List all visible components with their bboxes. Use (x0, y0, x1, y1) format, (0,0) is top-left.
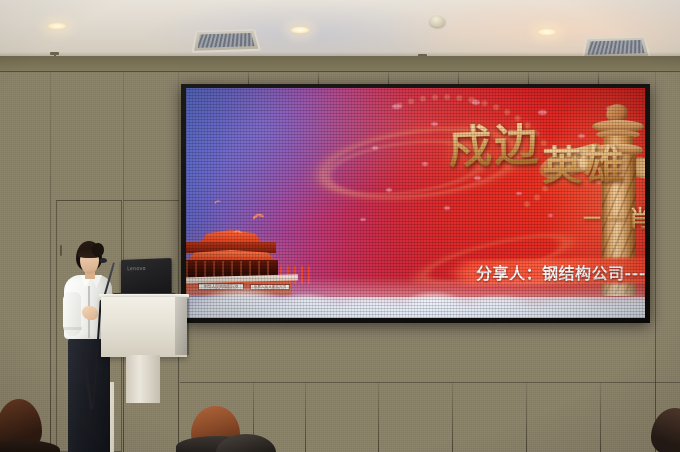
smoke-detector-icon (430, 16, 445, 27)
slide-dot (386, 188, 392, 192)
wall-seam (178, 72, 179, 452)
air-vent-1 (191, 29, 261, 53)
slide-dot (392, 104, 401, 109)
led-display-screen: 中华人民共和国万岁 世界人民大团结万岁 (186, 88, 645, 318)
wall-seam-horizontal-lower (180, 382, 680, 383)
wall-seam-horizontal (123, 200, 179, 201)
speaker-hand (82, 306, 98, 320)
slide-title-line-2: 英雄 (542, 132, 627, 191)
downlight-1 (46, 22, 68, 30)
slide-dot (431, 122, 438, 126)
downlight-2 (289, 26, 311, 34)
slide-dot (422, 162, 428, 166)
downlight-3 (536, 28, 558, 36)
microphone-head (99, 258, 107, 263)
slide-dot (360, 218, 366, 221)
wall-seam-lower (452, 382, 453, 452)
wall-seam (50, 72, 51, 452)
ceiling (0, 0, 680, 62)
slide-dot (472, 100, 480, 105)
wall-seam (655, 72, 656, 452)
speaker-hair-bun (92, 243, 104, 257)
presentation-room-photo: 中华人民共和国万岁 世界人民大团结万岁 (0, 0, 680, 452)
door-handle[interactable] (60, 245, 62, 256)
slide-cloud-base (186, 297, 645, 318)
slide-dot (444, 206, 450, 210)
led-display-frame: 中华人民共和国万岁 世界人民大团结万岁 (181, 84, 650, 323)
slide-subtitle: －－肖思远 (581, 201, 645, 233)
podium-base-column (126, 355, 160, 403)
slide-dot (516, 192, 522, 195)
slide-dot (474, 176, 481, 180)
slide-dot (372, 146, 378, 150)
slide-title-line-1: 戍边 (447, 108, 541, 175)
wall-upper-band (0, 56, 680, 72)
wall-seam-lower (305, 382, 306, 452)
wall-seam-lower (526, 382, 527, 452)
speaker-sleeve-hem (62, 327, 82, 330)
wall-seam-lower (600, 382, 601, 452)
wall-seam-lower (378, 382, 379, 452)
podium-side-shadow (175, 297, 189, 355)
